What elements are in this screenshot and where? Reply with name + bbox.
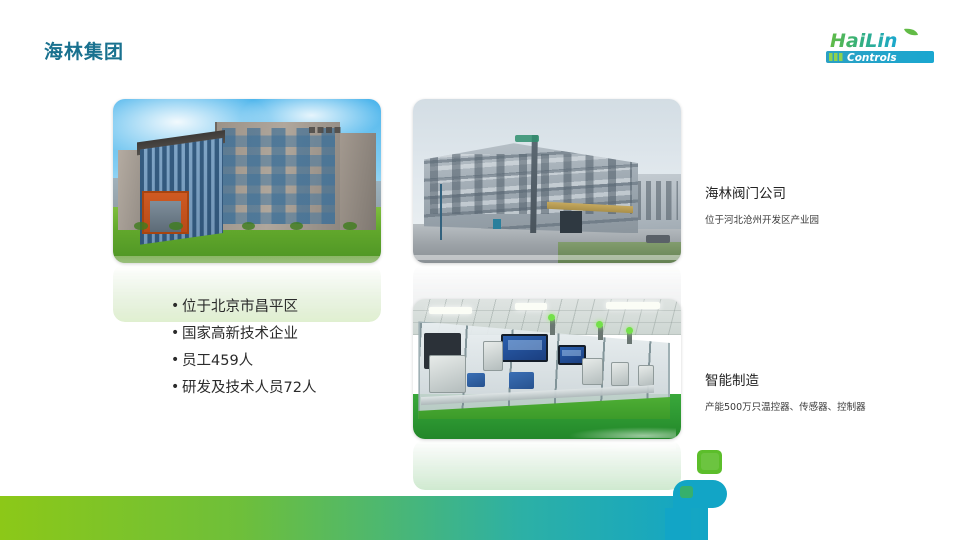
- manufacturing-photo-reflection: [413, 440, 681, 490]
- list-item: 位于北京市昌平区: [171, 300, 441, 315]
- list-item: 研发及技术人员72人: [171, 381, 441, 396]
- slide-canvas: 海林集团 HaiLin Con: [0, 0, 960, 540]
- manufacturing-caption-block: 智能制造 产能500万只温控器、传感器、控制器: [705, 373, 955, 415]
- manufacturing-caption-subtitle: 产能500万只温控器、传感器、控制器: [705, 401, 955, 415]
- valve-plant-photo: [413, 99, 681, 263]
- footer-hook-shape: [665, 468, 727, 540]
- footer-gradient-bar: [0, 496, 708, 540]
- valve-caption-block: 海林阀门公司 位于河北沧州开发区产业园: [705, 186, 955, 228]
- page-title: 海林集团: [44, 41, 124, 64]
- logo-wordmark: HaiLin: [830, 30, 897, 52]
- headquarters-photo: [113, 99, 381, 263]
- manufacturing-caption-title: 智能制造: [705, 373, 955, 389]
- decorative-square-large: [697, 450, 722, 474]
- valve-caption-title: 海林阀门公司: [705, 186, 955, 202]
- headquarters-fact-list: 位于北京市昌平区 国家高新技术企业 员工459人 研发及技术人员72人: [131, 300, 441, 408]
- list-item: 国家高新技术企业: [171, 327, 441, 342]
- hailin-logo: HaiLin Controls: [820, 28, 938, 68]
- list-item: 员工459人: [171, 354, 441, 369]
- manufacturing-photo: [413, 299, 681, 439]
- leaf-icon: [904, 29, 918, 35]
- logo-tagline: Controls: [847, 52, 897, 64]
- decorative-square-small: [680, 486, 693, 498]
- valve-caption-subtitle: 位于河北沧州开发区产业园: [705, 214, 955, 228]
